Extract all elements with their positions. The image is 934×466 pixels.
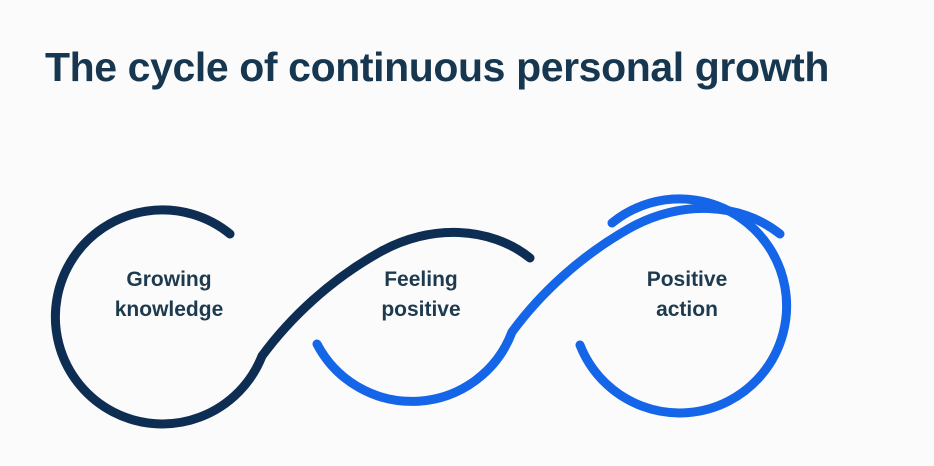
page-title: The cycle of continuous personal growth	[45, 44, 829, 91]
cycle-diagram-svg	[0, 130, 934, 450]
infographic-page: The cycle of continuous personal growth	[0, 0, 934, 466]
cycle-diagram: Growing knowledge Feeling positive Posit…	[0, 130, 934, 450]
loop-feeling-positive	[317, 208, 780, 401]
loop-positive-action	[580, 199, 787, 413]
